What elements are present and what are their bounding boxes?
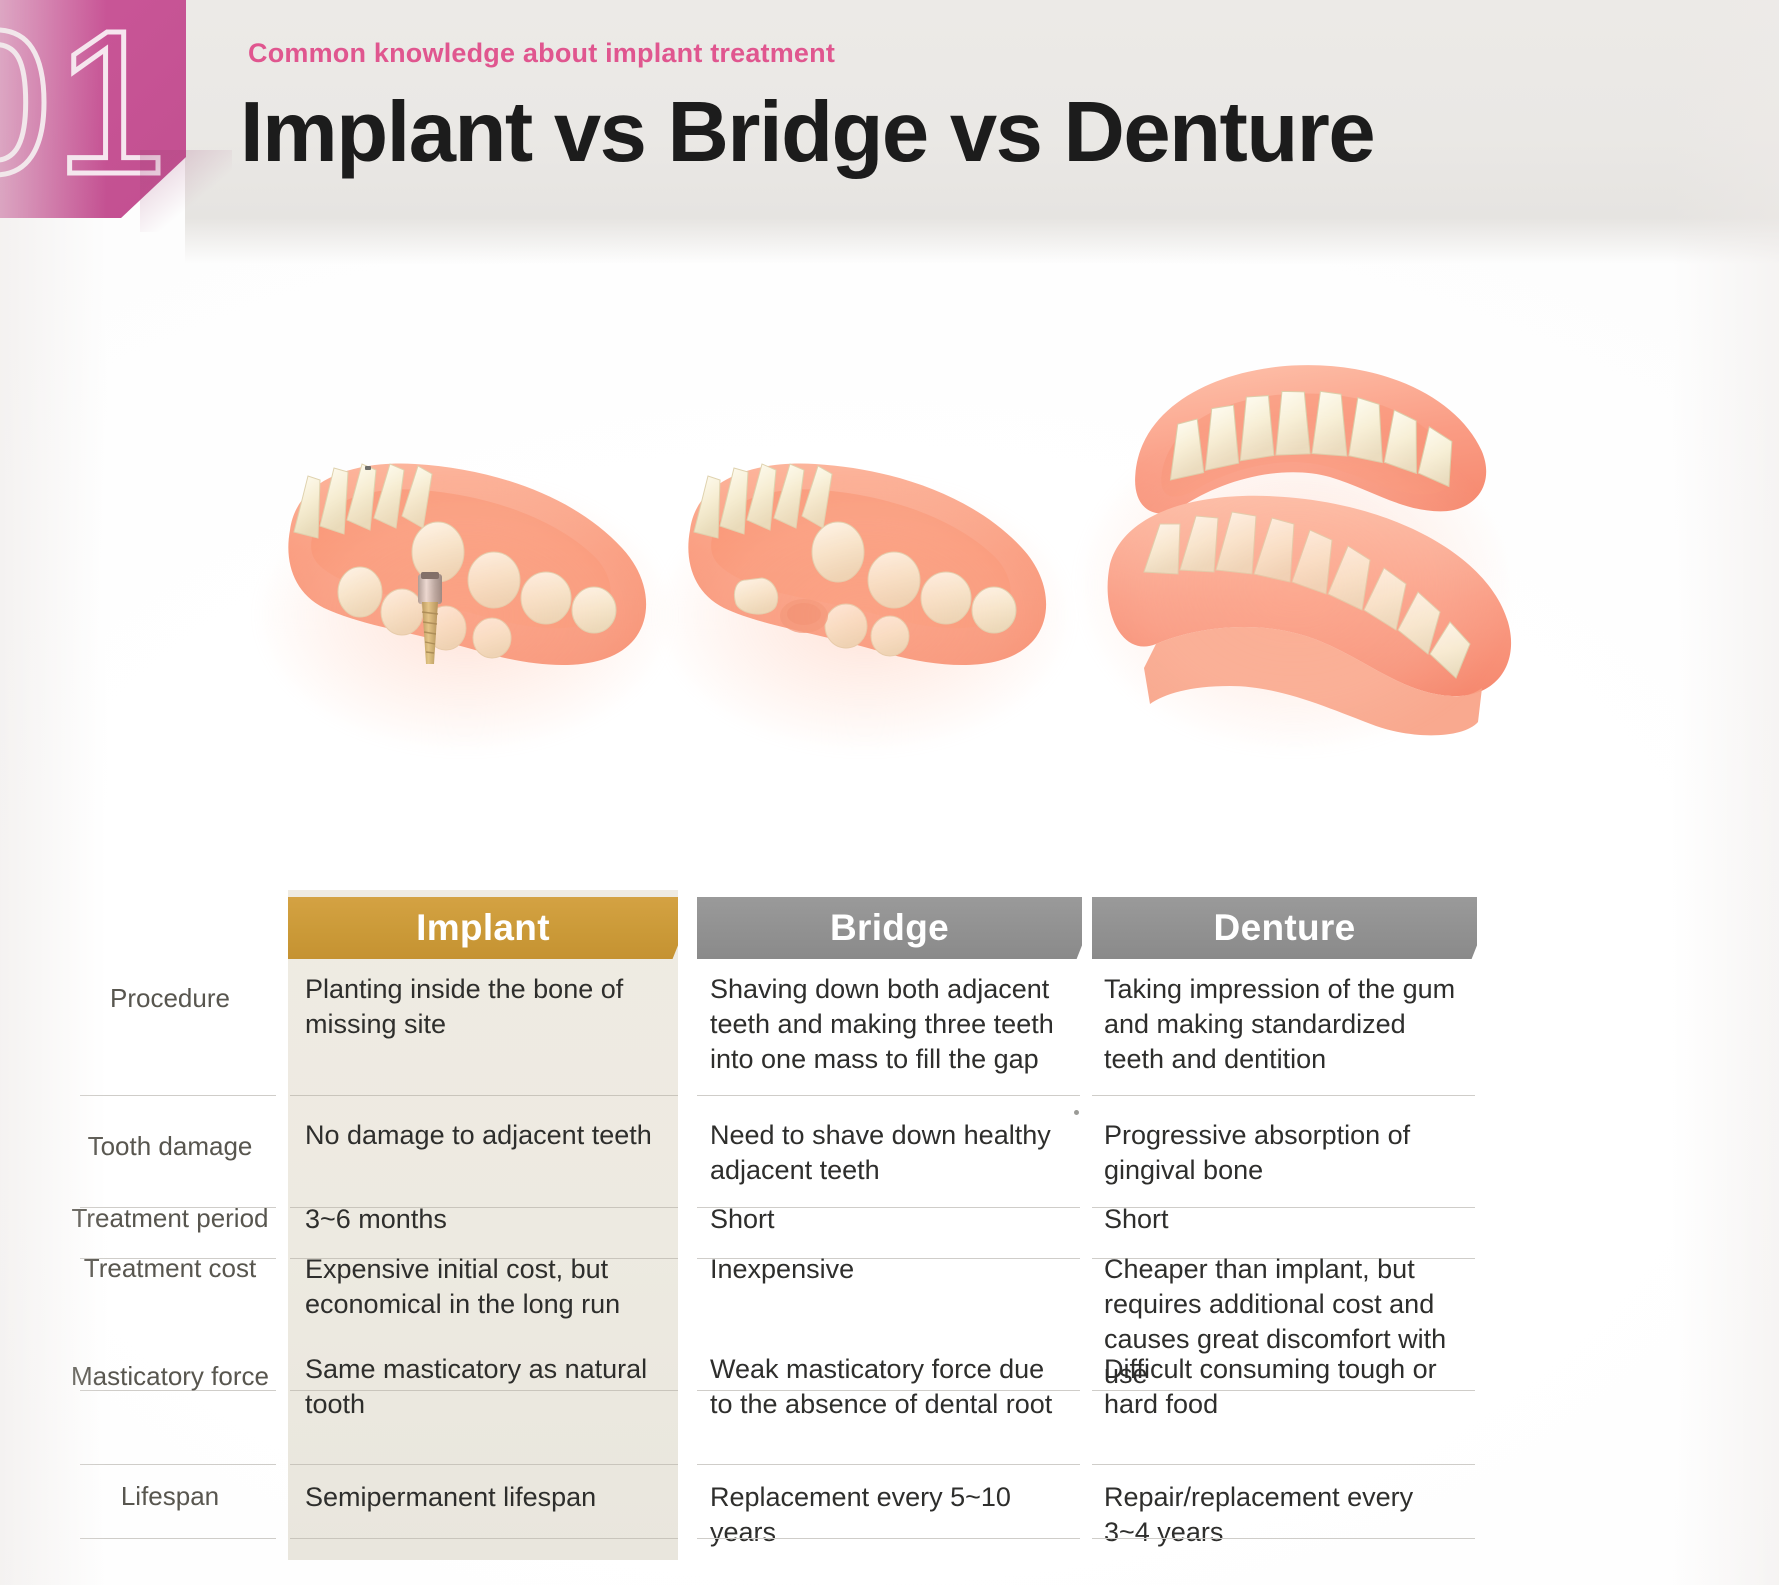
divider-1-bridge xyxy=(697,1095,1080,1096)
cell-lifespan-implant: Semipermanent lifespan xyxy=(305,1480,667,1515)
cell-treatment-cost-implant: Expensive initial cost, but economical i… xyxy=(305,1252,667,1322)
section-number-text: 01 xyxy=(0,0,170,212)
cell-treatment-period-bridge: Short xyxy=(710,1202,1068,1237)
cell-masticatory-force-bridge: Weak masticatory force due to the absenc… xyxy=(710,1352,1068,1422)
implant-illustration xyxy=(250,420,680,750)
cell-tooth-damage-bridge: Need to shave down healthy adjacent teet… xyxy=(710,1118,1068,1188)
header-banner-fade xyxy=(185,218,1779,264)
row-label-tooth-damage: Tooth damage xyxy=(66,1130,274,1162)
cell-procedure-implant: Planting inside the bone of missing site xyxy=(305,972,667,1042)
table-header-denture[interactable]: Denture xyxy=(1092,897,1477,959)
table-header-bridge[interactable]: Bridge xyxy=(697,897,1082,959)
illustration-area xyxy=(0,300,1779,800)
cell-masticatory-force-denture: Difficult consuming tough or hard food xyxy=(1104,1352,1466,1422)
divider-6-denture xyxy=(1092,1538,1475,1539)
scan-speck-upper xyxy=(365,466,371,470)
table-header-implant-label: Implant xyxy=(416,907,550,949)
divider-6-bridge xyxy=(697,1538,1080,1539)
cell-procedure-denture: Taking impression of the gum and making … xyxy=(1104,972,1466,1077)
cell-tooth-damage-denture: Progressive absorption of gingival bone xyxy=(1104,1118,1466,1188)
row-label-treatment-cost: Treatment cost xyxy=(66,1252,274,1284)
row-label-lifespan: Lifespan xyxy=(66,1480,274,1512)
scan-speck-table xyxy=(1074,1110,1079,1115)
divider-1-label xyxy=(80,1095,276,1096)
row-label-treatment-period: Treatment period xyxy=(66,1202,274,1234)
table-header-denture-label: Denture xyxy=(1214,907,1356,949)
divider-5-bridge xyxy=(697,1464,1080,1465)
divider-6-label xyxy=(80,1538,276,1539)
divider-1-denture xyxy=(1092,1095,1475,1096)
divider-6-implant xyxy=(290,1538,678,1539)
bridge-illustration xyxy=(650,420,1080,750)
table-header-bridge-label: Bridge xyxy=(830,907,949,949)
row-label-procedure: Procedure xyxy=(66,982,274,1014)
comparison-table: Implant Bridge Denture Procedure Plantin… xyxy=(0,890,1779,1585)
cell-tooth-damage-implant: No damage to adjacent teeth xyxy=(305,1118,667,1153)
cell-treatment-cost-bridge: Inexpensive xyxy=(710,1252,1068,1287)
divider-1-implant xyxy=(290,1095,678,1096)
row-label-masticatory-force: Masticatory force xyxy=(66,1360,274,1392)
cell-lifespan-bridge: Replacement every 5~10 years xyxy=(710,1480,1068,1550)
cell-lifespan-denture: Repair/replacement every 3~4 years xyxy=(1104,1480,1466,1550)
divider-5-implant xyxy=(290,1464,678,1465)
cell-treatment-period-implant: 3~6 months xyxy=(305,1202,667,1237)
eyebrow-subtitle: Common knowledge about implant treatment xyxy=(248,38,835,69)
page-title: Implant vs Bridge vs Denture xyxy=(240,86,1374,180)
divider-5-denture xyxy=(1092,1464,1475,1465)
cell-masticatory-force-implant: Same masticatory as natural tooth xyxy=(305,1352,667,1422)
divider-5-label xyxy=(80,1464,276,1465)
denture-illustration xyxy=(1060,330,1530,760)
cell-procedure-bridge: Shaving down both adjacent teeth and mak… xyxy=(710,972,1068,1077)
cell-treatment-period-denture: Short xyxy=(1104,1202,1466,1237)
table-header-implant[interactable]: Implant xyxy=(288,897,678,959)
